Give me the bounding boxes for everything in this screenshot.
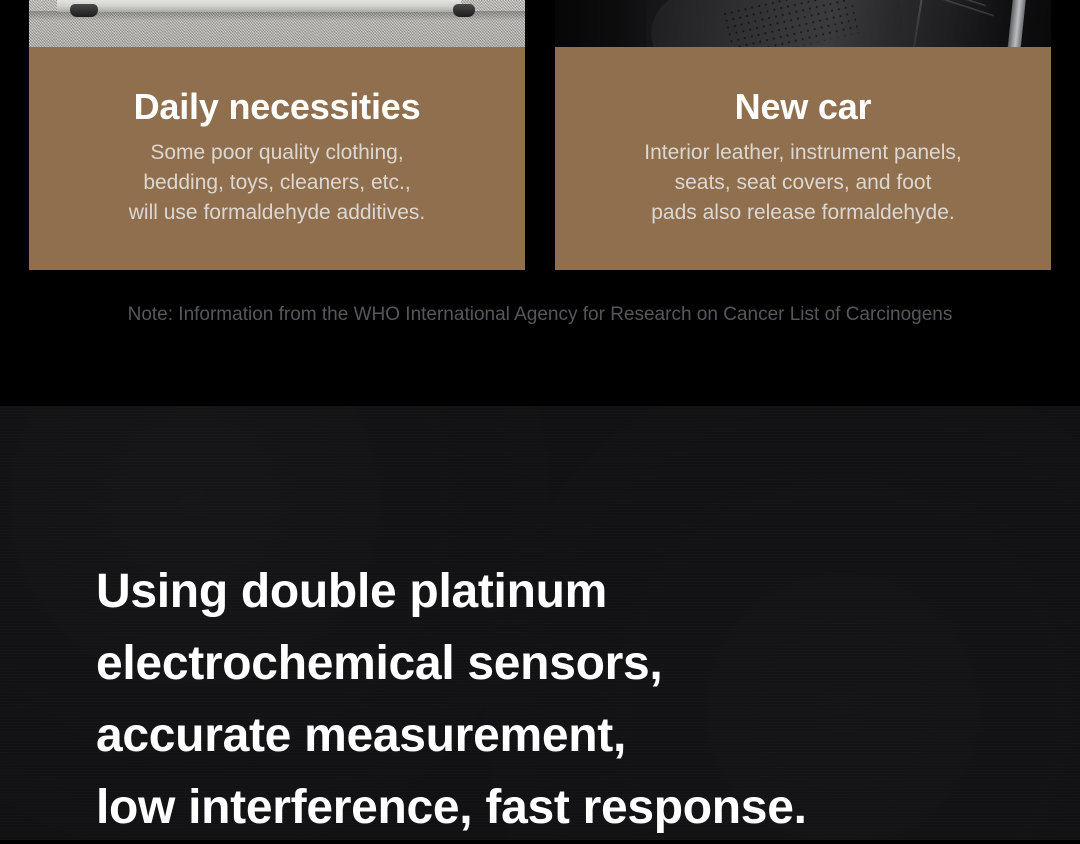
feature-heading: Using double platinum electrochemical se… xyxy=(96,556,807,844)
carpet-with-appliance-photo xyxy=(29,0,525,47)
card-description-line: seats, seat covers, and foot xyxy=(555,168,1051,198)
card-description-line: will use formaldehyde additives. xyxy=(29,198,525,228)
card-description-line: Interior leather, instrument panels, xyxy=(555,138,1051,168)
car-leather-seat-photo xyxy=(555,0,1051,47)
card-description-line: bedding, toys, cleaners, etc., xyxy=(29,168,525,198)
appliance-foot-left xyxy=(70,4,98,17)
card-title: Daily necessities xyxy=(29,47,525,129)
feature-heading-line: accurate measurement, xyxy=(96,700,807,772)
info-card-body: Daily necessities Some poor quality clot… xyxy=(29,47,525,270)
seat-shadow-area xyxy=(555,0,647,47)
source-note: Note: Information from the WHO Internati… xyxy=(0,303,1080,327)
appliance-body xyxy=(57,0,461,12)
info-card-body: New car Interior leather, instrument pan… xyxy=(555,47,1051,270)
page-root: Daily necessities Some poor quality clot… xyxy=(0,0,1080,840)
feature-heading-line: low interference, fast response. xyxy=(96,772,807,844)
card-description-line: pads also release formaldehyde. xyxy=(555,198,1051,228)
info-card-daily-necessities[interactable]: Daily necessities Some poor quality clot… xyxy=(29,0,525,270)
card-description-line: Some poor quality clothing, xyxy=(29,138,525,168)
card-description: Some poor quality clothing, bedding, toy… xyxy=(29,129,525,228)
info-card-row: Daily necessities Some poor quality clot… xyxy=(29,0,1051,270)
card-title: New car xyxy=(555,47,1051,129)
appliance-foot-right xyxy=(453,4,475,17)
info-card-new-car[interactable]: New car Interior leather, instrument pan… xyxy=(555,0,1051,270)
formaldehyde-sources-section: Daily necessities Some poor quality clot… xyxy=(0,0,1080,406)
appliance-shadow xyxy=(29,11,525,21)
feature-heading-line: Using double platinum xyxy=(96,556,807,628)
card-description: Interior leather, instrument panels, sea… xyxy=(555,129,1051,228)
feature-heading-line: electrochemical sensors, xyxy=(96,628,807,700)
